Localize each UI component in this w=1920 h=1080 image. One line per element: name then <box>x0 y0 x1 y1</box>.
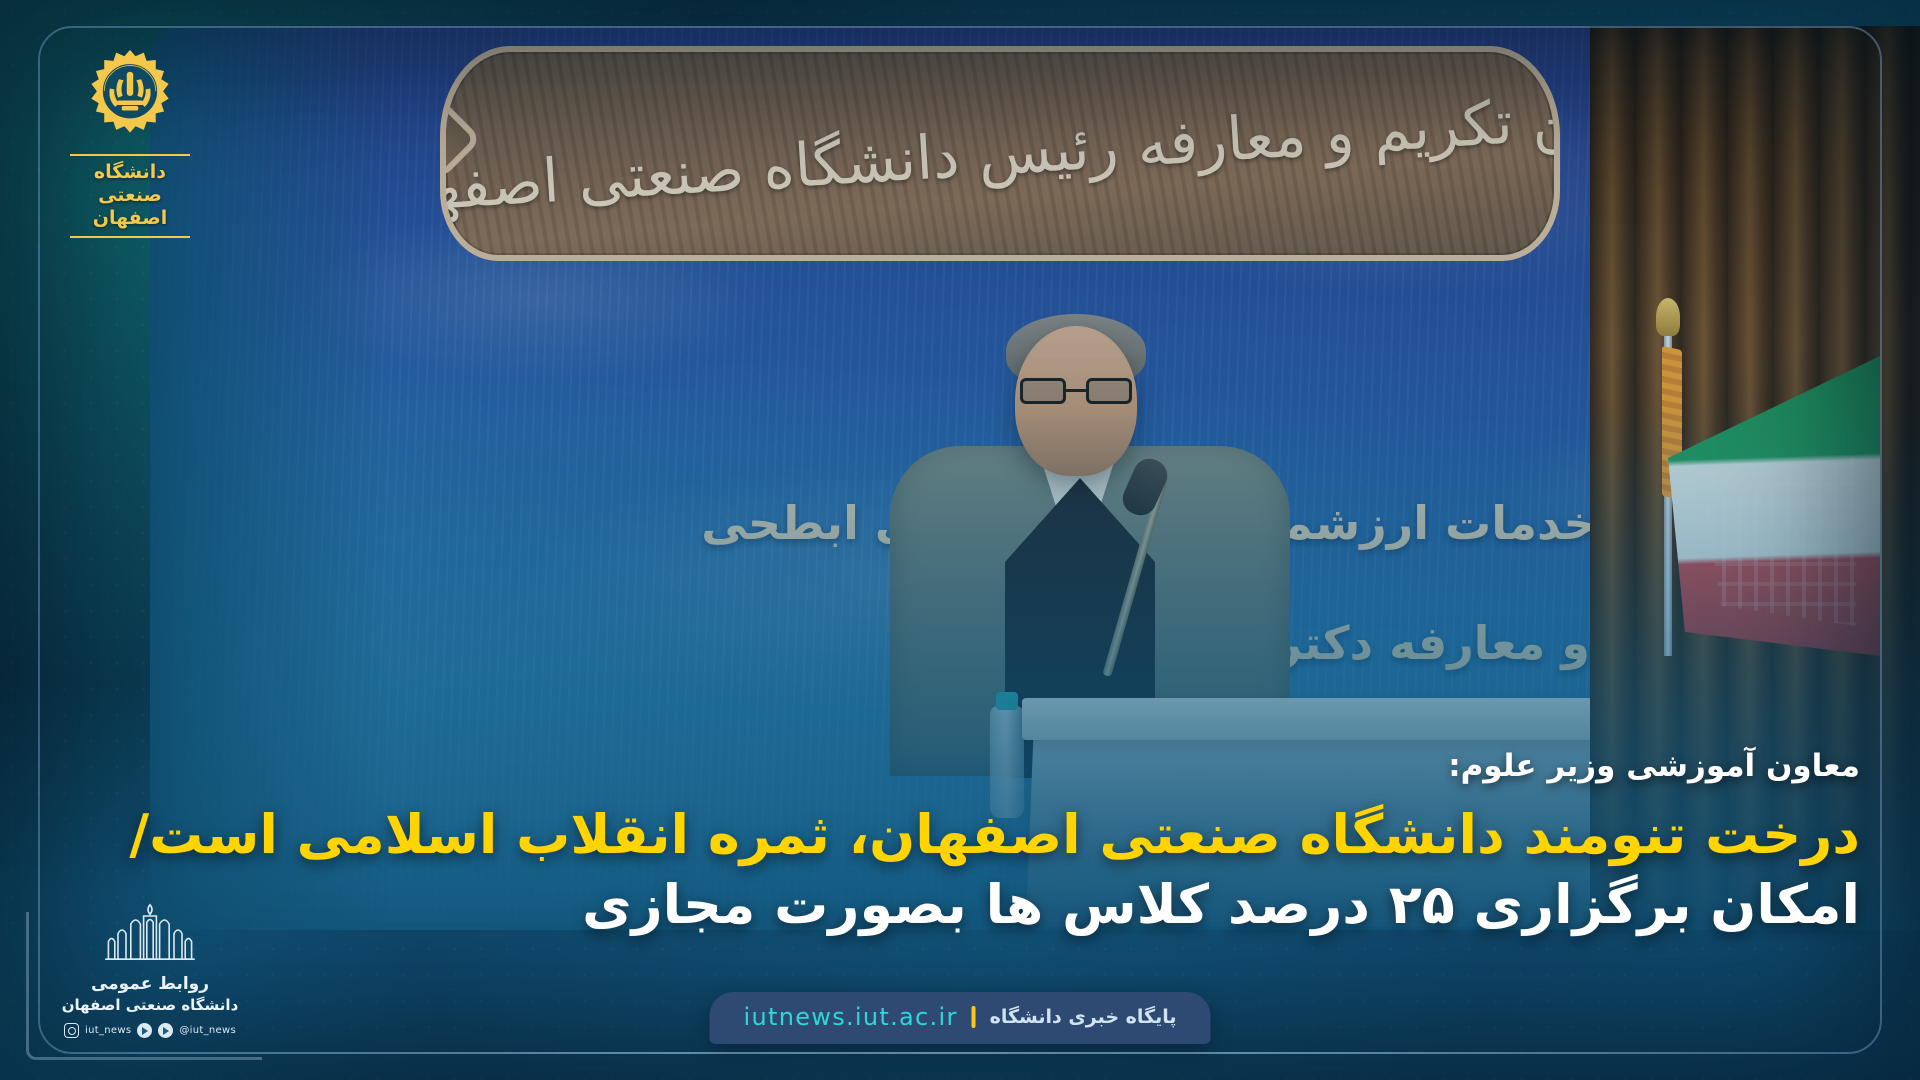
university-logo: دانشگاه صنعتی اصفهان <box>70 48 190 238</box>
article-kicker: معاون آموزشی وزیر علوم: <box>1448 748 1860 784</box>
instagram-icon[interactable] <box>64 1023 79 1038</box>
headline-line-2: امکان برگزاری ۲۵ درصد کلاس ها بصورت مجاز… <box>60 870 1860 940</box>
article-headline: درخت تنومند دانشگاه صنعتی اصفهان، ثمره ا… <box>60 800 1860 940</box>
telegram-icon[interactable] <box>137 1023 152 1038</box>
pr-social-handles[interactable]: iut_news @iut_news <box>56 1023 244 1038</box>
logo-caption-line-3: اصفهان <box>70 207 190 230</box>
telegram-handle[interactable]: @iut_news <box>179 1025 236 1036</box>
site-label: پایگاه خبری دانشگاه <box>990 1006 1177 1028</box>
logo-caption-line-2: صنعتی <box>70 184 190 207</box>
divider-bar <box>972 1006 976 1028</box>
logo-caption-line-1: دانشگاه <box>70 161 190 184</box>
bottom-divider <box>40 1052 1880 1054</box>
site-url[interactable]: iutnews.iut.ac.ir <box>744 1003 958 1031</box>
site-url-chip[interactable]: پایگاه خبری دانشگاه iutnews.iut.ac.ir <box>710 992 1211 1044</box>
headline-line-1: درخت تنومند دانشگاه صنعتی اصفهان، ثمره ا… <box>60 800 1860 870</box>
pr-title-line-1: روابط عمومی <box>56 974 244 994</box>
university-logo-caption: دانشگاه صنعتی اصفهان <box>70 154 190 238</box>
news-card: آیین تکریم و معارفه رئیس دانشگاه صنعتی ا… <box>0 0 1920 1080</box>
iut-gear-logo-icon <box>84 48 176 140</box>
pr-title-line-2: دانشگاه صنعتی اصفهان <box>56 996 244 1014</box>
instagram-handle[interactable]: iut_news <box>85 1025 131 1036</box>
eitaa-icon[interactable] <box>158 1023 173 1038</box>
